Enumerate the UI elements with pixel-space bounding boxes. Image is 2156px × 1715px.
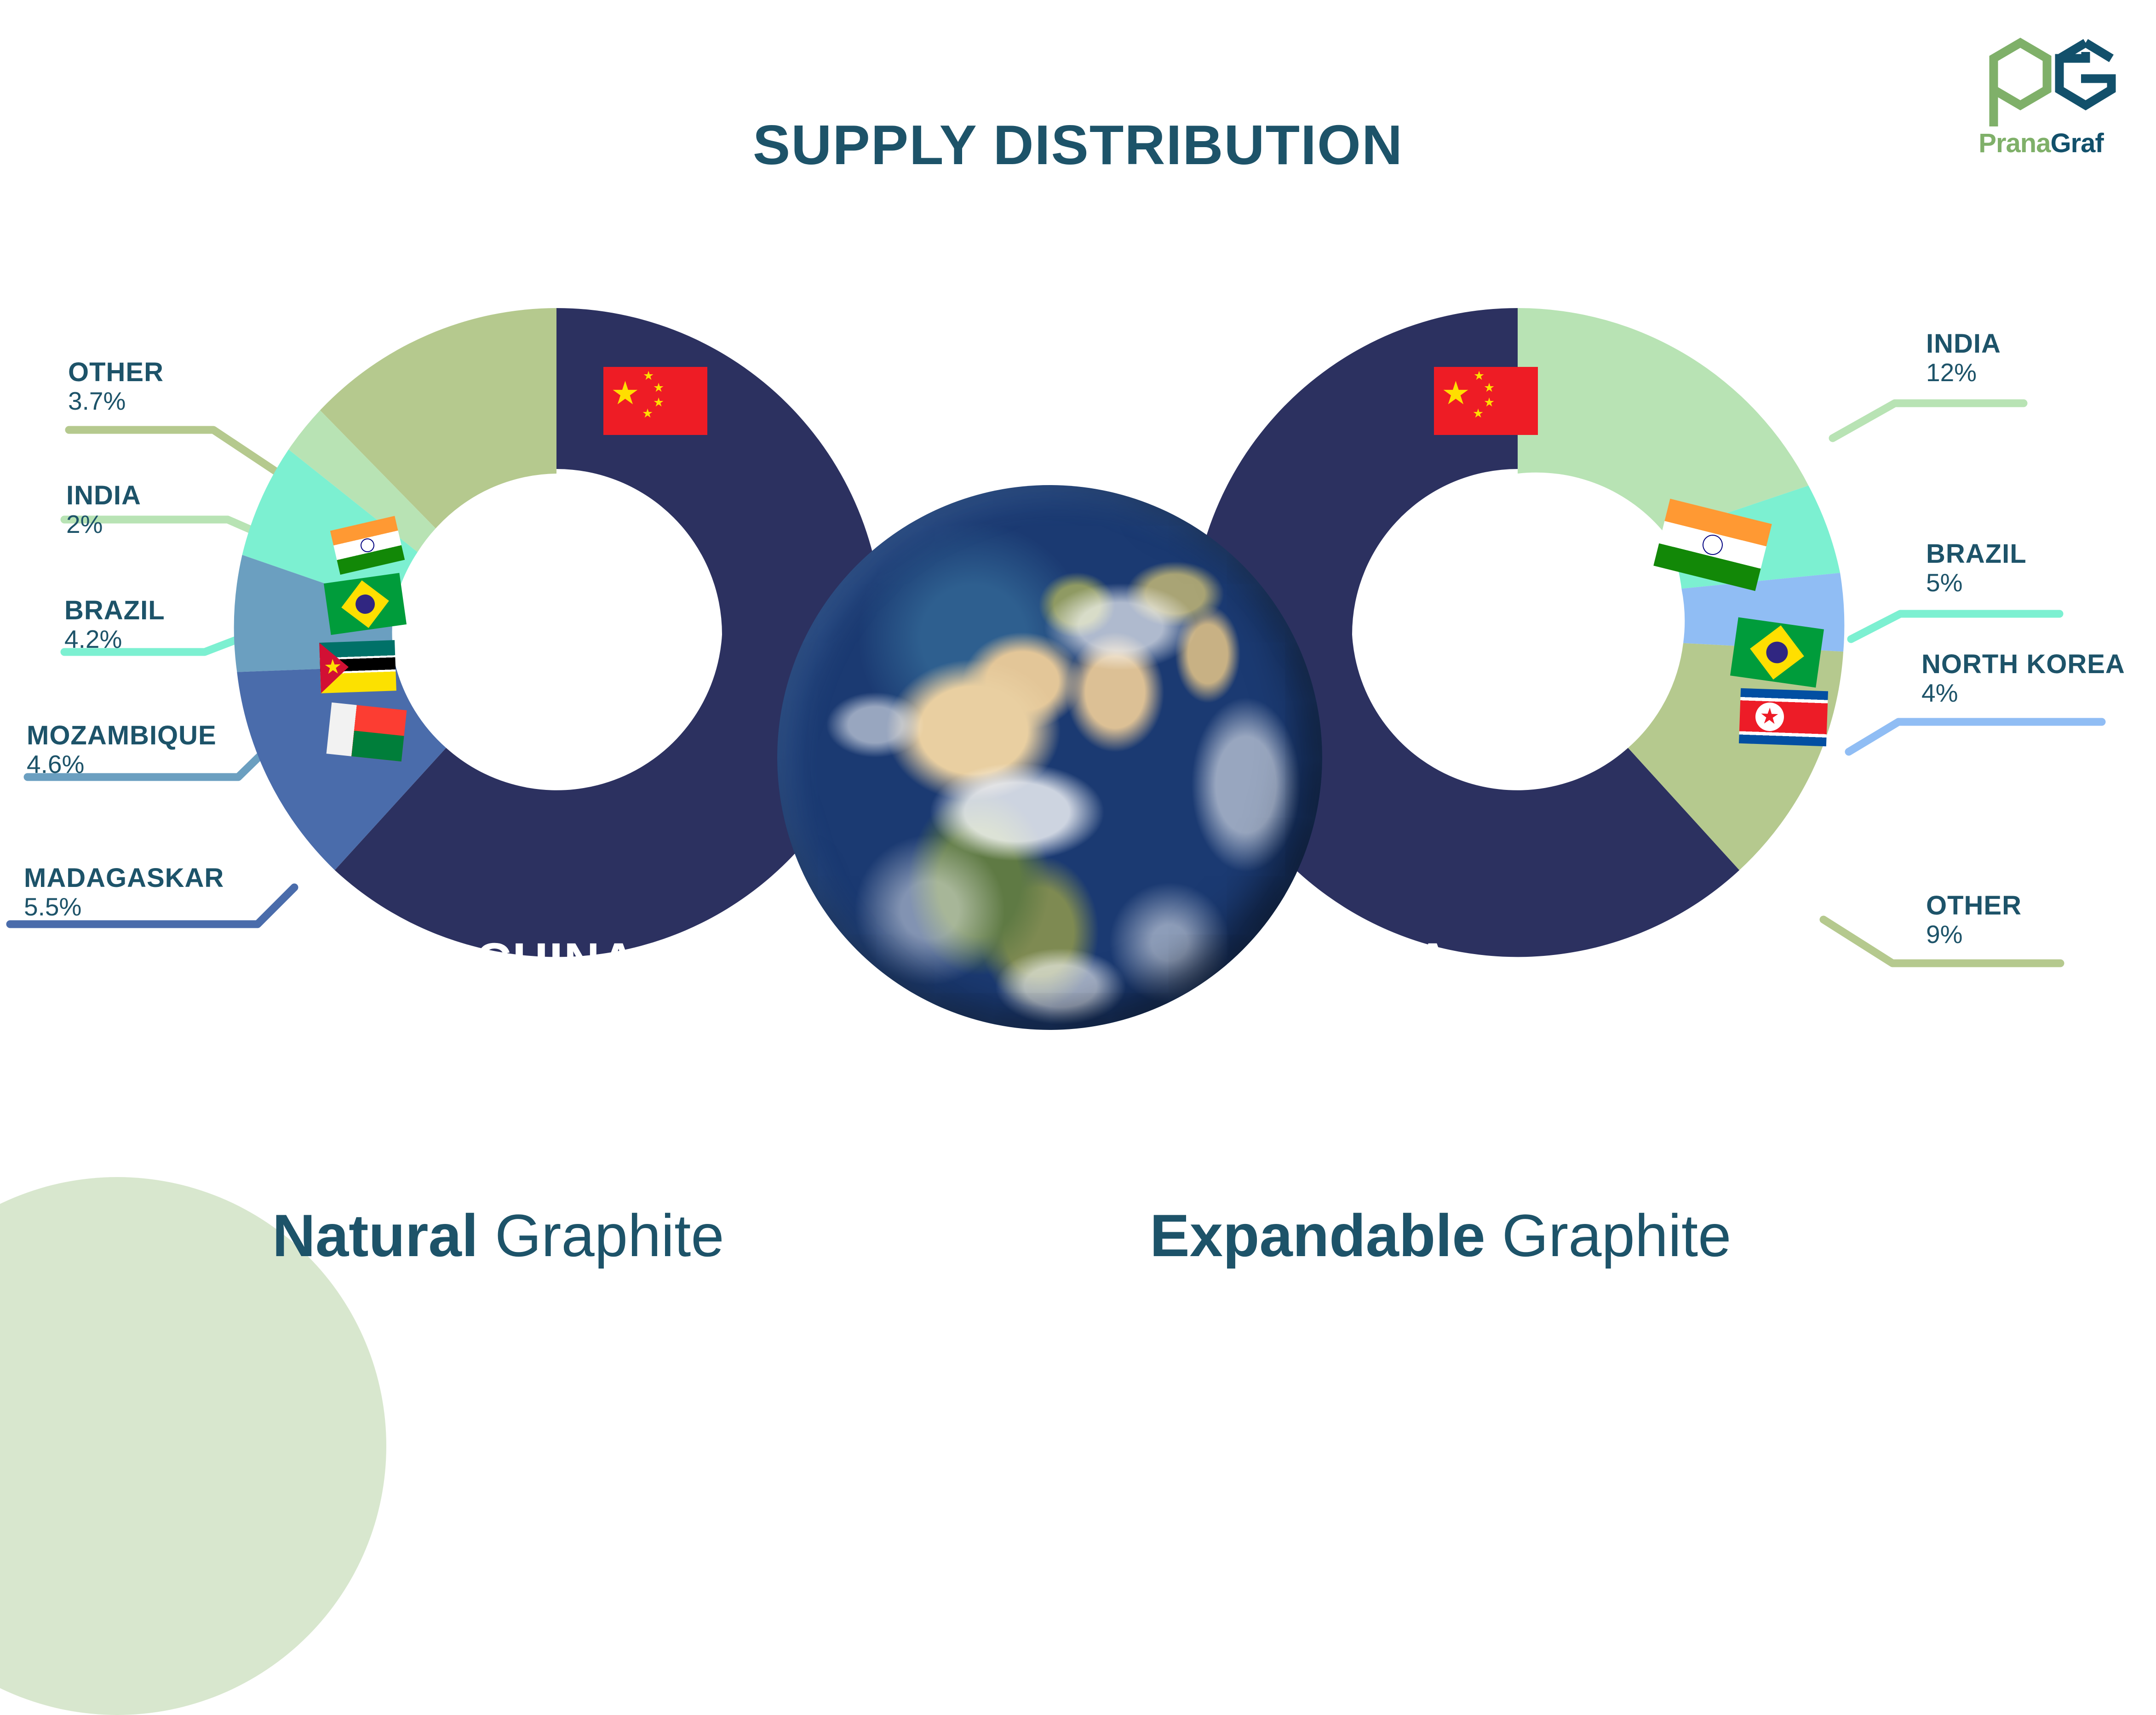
label-name: NORTH KOREA — [1921, 651, 2125, 679]
china-flag: ★ ★ ★ ★ ★ — [1434, 367, 1538, 435]
caption-bold: Expandable — [1150, 1202, 1485, 1269]
label-madagaskar-natural: MADAGASKAR 5.5% — [24, 864, 224, 921]
label-other-natural: OTHER 3.7% — [68, 359, 164, 416]
flag-star-big: ★ — [1441, 377, 1470, 409]
north-korea-flag: ★ — [1739, 688, 1828, 747]
mozambique-flag: ★ — [319, 640, 396, 693]
north-korea-star: ★ — [1759, 705, 1780, 728]
label-value: 4% — [1921, 679, 2125, 708]
mozambique-star: ★ — [323, 657, 342, 677]
caption-expandable-graphite: Expandable Graphite — [1150, 1201, 1731, 1270]
segment-china[interactable] — [556, 308, 883, 635]
label-name: BRAZIL — [64, 597, 165, 625]
label-value: 4.2% — [64, 625, 165, 654]
leader-line-northkorea-right — [1849, 722, 2102, 752]
label-name: MOZAMBIQUE — [27, 722, 217, 750]
label-mozambique-natural: MOZAMBIQUE 4.6% — [27, 722, 217, 779]
label-name: INDIA — [66, 482, 141, 510]
label-value: 9% — [1926, 920, 2022, 949]
flag-star-2: ★ — [653, 382, 664, 394]
label-brazil-expandable: BRAZIL 5% — [1926, 540, 2027, 597]
leader-line-brazil-right — [1851, 614, 2059, 639]
caption-light: Graphite — [495, 1202, 724, 1269]
segment-india[interactable] — [1518, 308, 1808, 534]
expandable-center-country: CHINA — [1210, 936, 1531, 985]
ashoka-chakra-icon — [1700, 532, 1725, 557]
madagaskar-green-band — [351, 731, 404, 761]
caption-bold: Natural — [272, 1202, 478, 1269]
ashoka-chakra-icon — [359, 537, 376, 554]
expandable-center-value: 70% — [1210, 985, 1531, 1040]
label-value: 5% — [1926, 568, 2027, 597]
label-value: 4.6% — [27, 750, 217, 779]
brazil-flag — [324, 573, 407, 635]
infographic-stage: ★ ★ ★ ★ ★ ★ CHINA 80% — [0, 0, 2156, 1437]
flag-star-1: ★ — [643, 370, 654, 382]
brazil-flag — [1730, 617, 1824, 688]
earth-globe-image — [777, 485, 1322, 1030]
china-flag: ★ ★ ★ ★ ★ — [603, 367, 707, 435]
label-india-expandable: INDIA 12% — [1926, 330, 2001, 387]
label-northkorea-expandable: NORTH KOREA 4% — [1921, 651, 2125, 708]
flag-star-3: ★ — [1484, 396, 1495, 409]
label-name: OTHER — [1926, 892, 2022, 920]
label-value: 2% — [66, 510, 141, 539]
north-korea-star-disc: ★ — [1755, 702, 1784, 732]
label-value: 12% — [1926, 358, 2001, 387]
flag-star-4: ★ — [642, 407, 653, 420]
natural-center-country: CHINA — [396, 936, 717, 985]
expandable-center-label: CHINA 70% — [1210, 936, 1531, 1040]
label-name: OTHER — [68, 359, 164, 387]
flag-star-2: ★ — [1484, 382, 1495, 394]
label-brazil-natural: BRAZIL 4.2% — [64, 597, 165, 654]
label-value: 3.7% — [68, 387, 164, 416]
label-value: 5.5% — [24, 892, 224, 921]
madagaskar-flag — [327, 703, 407, 762]
flag-star-4: ★ — [1473, 407, 1484, 420]
label-name: INDIA — [1926, 330, 2001, 358]
flag-star-3: ★ — [653, 396, 664, 409]
natural-center-value: 80% — [396, 985, 717, 1040]
label-name: BRAZIL — [1926, 540, 2027, 568]
natural-center-label: CHINA 80% — [396, 936, 717, 1040]
caption-light: Graphite — [1502, 1202, 1732, 1269]
label-other-expandable: OTHER 9% — [1926, 892, 2022, 949]
label-name: MADAGASKAR — [24, 864, 224, 892]
flag-star-big: ★ — [611, 377, 640, 409]
flag-star-1: ★ — [1474, 370, 1485, 382]
caption-natural-graphite: Natural Graphite — [272, 1201, 724, 1270]
label-india-natural: INDIA 2% — [66, 482, 141, 539]
